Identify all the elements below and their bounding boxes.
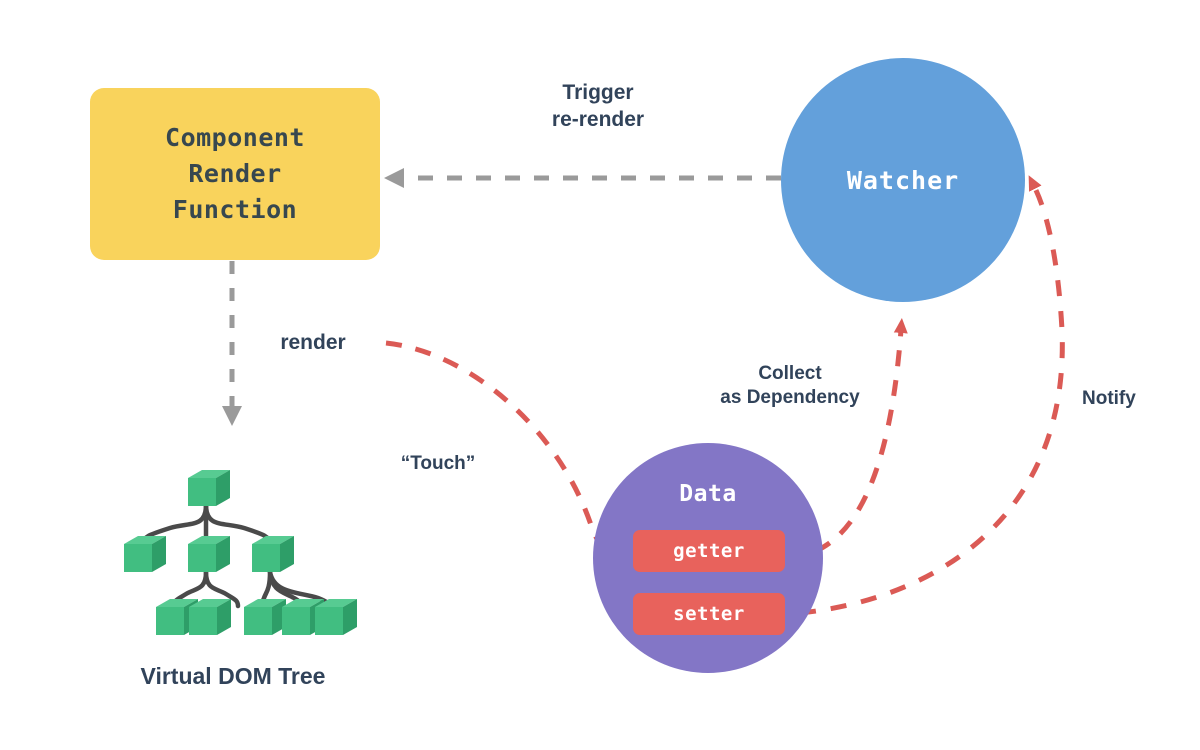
edge-label-notify: Notify <box>1082 387 1182 411</box>
vdom-leaf-cubes <box>156 599 357 635</box>
edge-label-trigger-rerender: Trigger re-render <box>498 80 698 134</box>
data-label: Data <box>593 481 823 507</box>
watcher-node[interactable]: Watcher <box>781 58 1025 302</box>
edge-label-touch: “Touch” <box>368 452 508 476</box>
virtual-dom-tree-label: Virtual DOM Tree <box>110 662 356 691</box>
component-line-1: Component <box>165 120 305 156</box>
virtual-dom-tree <box>124 470 357 635</box>
edge-label-collect-as-dependency: Collect as Dependency <box>690 362 890 411</box>
getter-label: getter <box>673 540 745 562</box>
diagram-canvas: Component Render Function Watcher Data g… <box>0 0 1200 750</box>
vdom-branch-cubes <box>124 536 294 572</box>
vdom-root-cube <box>188 470 230 506</box>
setter-label: setter <box>673 603 745 625</box>
component-render-function-node[interactable]: Component Render Function <box>90 88 380 260</box>
component-line-3: Function <box>173 192 297 228</box>
edge-touch <box>386 343 624 548</box>
data-node[interactable]: Data getter setter <box>593 443 823 673</box>
watcher-label: Watcher <box>847 166 959 195</box>
component-line-2: Render <box>188 156 281 192</box>
edge-label-render: render <box>240 330 386 357</box>
setter-box[interactable]: setter <box>633 593 785 635</box>
getter-box[interactable]: getter <box>633 530 785 572</box>
